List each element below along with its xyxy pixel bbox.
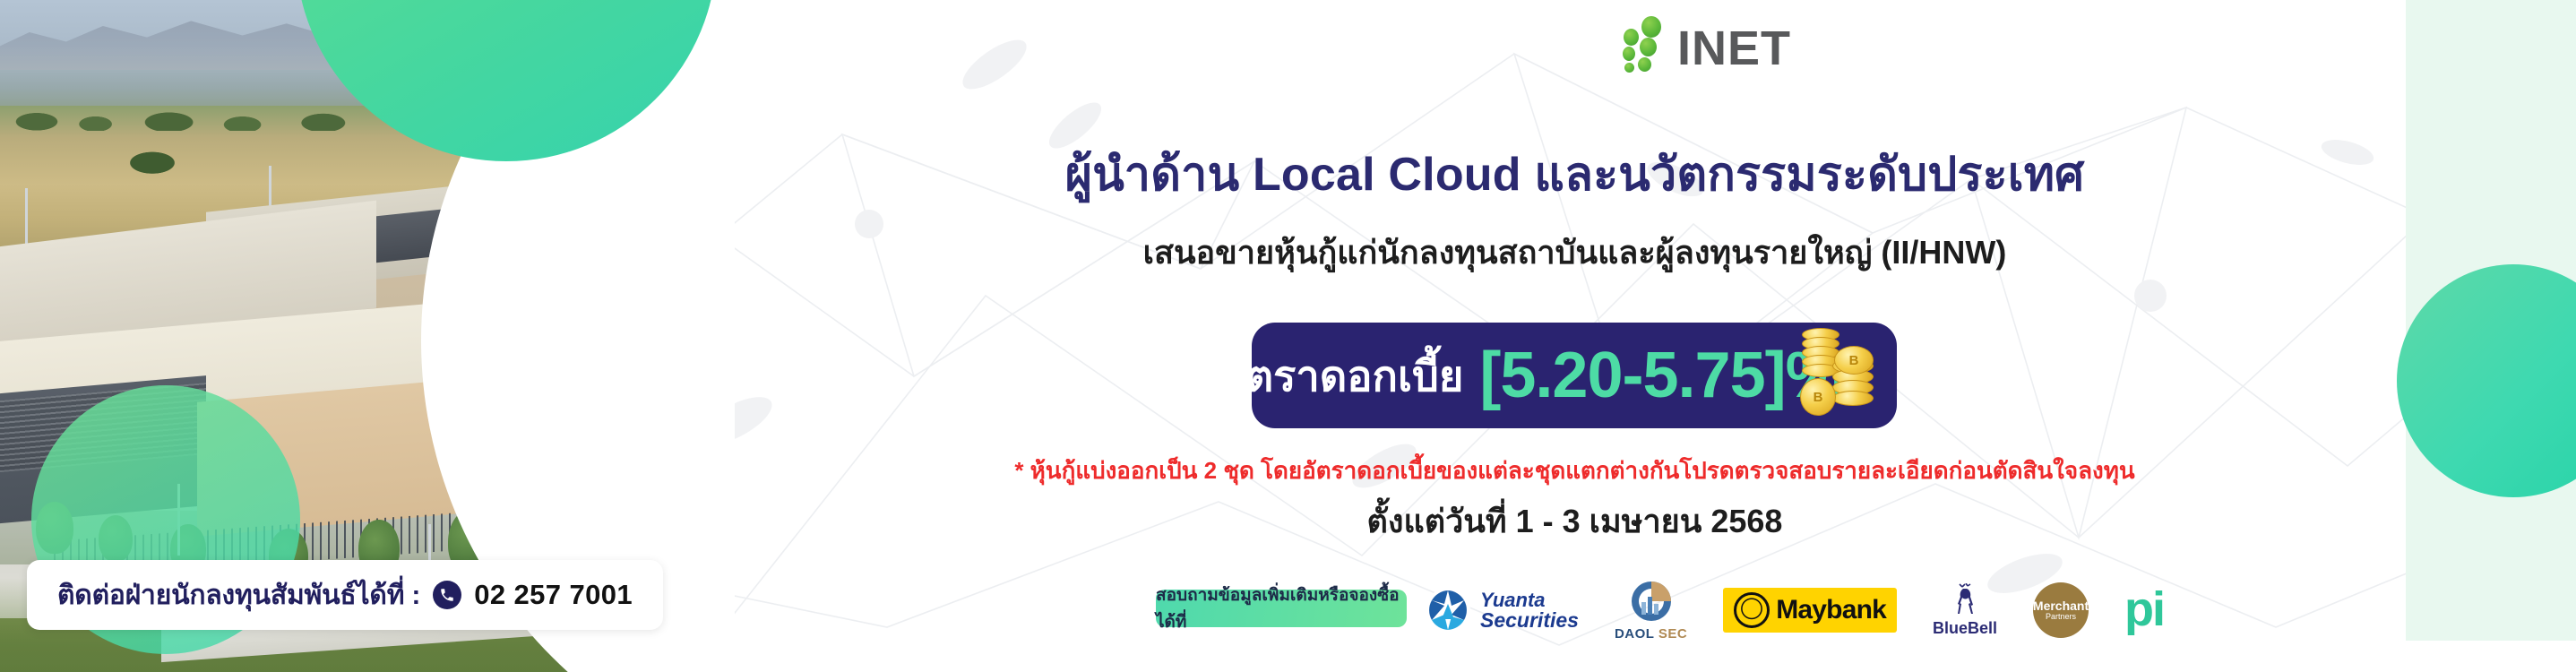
partner-logo-bluebell[interactable]: BlueBell (1933, 583, 1997, 638)
page-title: ผู้นำด้าน Local Cloud และนวัตกรรมระดับปร… (573, 136, 2576, 211)
photo-big-tree (121, 146, 184, 177)
interest-rate-value: [5.20-5.75]% (1479, 343, 1841, 408)
merchant-line1: Merchant (2033, 599, 2089, 613)
offering-date-range: ตั้งแต่วันที่ 1 - 3 เมษายน 2568 (573, 495, 2576, 547)
footnote-text: * หุ้นกู้แบ่งออกเป็น 2 ชุด โดยอัตราดอกเบ… (573, 452, 2576, 489)
daol-line1: DAOL (1615, 626, 1654, 642)
daol-wordmark: DAOL SEC (1615, 626, 1687, 642)
yuanta-wordmark: Yuanta Securities (1480, 590, 1579, 631)
promo-banner: ติดต่อฝ่ายนักลงทุนสัมพันธ์ได้ที่ : 02 25… (0, 0, 2576, 672)
partner-logo-maybank[interactable]: Maybank (1723, 588, 1897, 633)
merchant-line2: Partners (2046, 613, 2076, 621)
partner-logo-merchant-partners[interactable]: Merchant Partners (2033, 582, 2089, 638)
partner-logo-daol[interactable]: DAOL SEC (1615, 579, 1687, 642)
daol-line2: SEC (1658, 626, 1687, 642)
bluebell-deer-icon (1947, 583, 1983, 617)
interest-rate-box: อัตราดอกเบี้ย [5.20-5.75]% B B (1252, 323, 1897, 428)
interest-rate-label: อัตราดอกเบี้ย (1220, 342, 1463, 409)
maybank-wordmark: Maybank (1776, 595, 1886, 625)
investor-contact-card[interactable]: ติดต่อฝ่ายนักลงทุนสัมพันธ์ได้ที่ : 02 25… (27, 560, 663, 630)
daol-circle-icon (1629, 579, 1674, 624)
partner-logos: Yuanta Securities DAOL SEC (1425, 578, 2164, 642)
bitcoin-coins-icon: B B (1795, 323, 1881, 423)
contact-phone-number[interactable]: 02 257 7001 (474, 579, 633, 611)
cta-button[interactable]: สอบถามข้อมูลเพิ่มเติมหรือจองซื้อได้ที่ (1156, 590, 1407, 627)
yuanta-line2: Securities (1480, 610, 1579, 631)
yuanta-star-icon (1425, 587, 1471, 633)
partner-logo-yuanta[interactable]: Yuanta Securities (1425, 587, 1579, 633)
content-area: INET ผู้นำด้าน Local Cloud และนวัตกรรมระ… (573, 0, 2576, 672)
inet-wordmark: INET (1677, 26, 1791, 72)
inet-dots-icon (1622, 16, 1672, 72)
partner-logo-pi[interactable]: pi (2124, 590, 2164, 629)
maybank-tiger-icon (1734, 592, 1770, 628)
pi-wordmark-icon: pi (2124, 590, 2164, 629)
page-subtitle: เสนอขายหุ้นกู้แก่นักลงทุนสถาบันและผู้ลงท… (573, 227, 2576, 278)
phone-icon (433, 581, 461, 609)
contact-label: ติดต่อฝ่ายนักลงทุนสัมพันธ์ได้ที่ : (57, 574, 420, 616)
bluebell-wordmark: BlueBell (1933, 619, 1997, 638)
yuanta-line1: Yuanta (1480, 590, 1579, 610)
inet-logo[interactable]: INET (1622, 16, 1791, 72)
